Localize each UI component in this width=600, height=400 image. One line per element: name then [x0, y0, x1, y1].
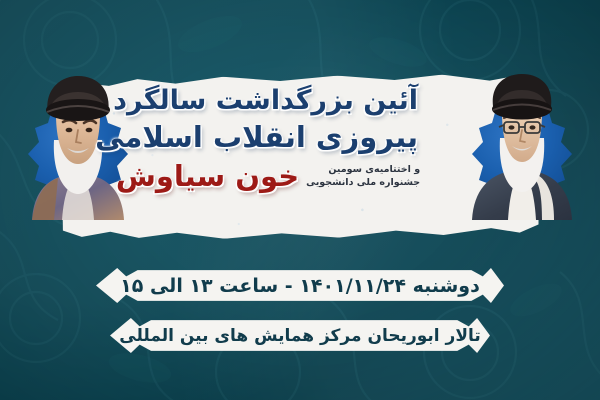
headline-line-1: آئین بزرگداشت سالگرد	[118, 84, 418, 118]
portrait-khamenei	[458, 70, 586, 220]
portrait-khamenei-image	[458, 70, 586, 220]
festival-name: خون سیاوش	[116, 160, 299, 192]
festival-subtitle-line-1: و اختتامیه‌ی سومین	[306, 163, 420, 176]
festival-row: خون سیاوش و اختتامیه‌ی سومین جشنواره ملی…	[118, 160, 418, 192]
date-time-banner: دوشنبه ۱۴۰۱/۱۱/۲۴ - ساعت ۱۳ الی ۱۵	[96, 268, 504, 303]
headline-text-block: آئین بزرگداشت سالگرد پیروزی انقلاب اسلام…	[118, 82, 418, 234]
headline-line-2: پیروزی انقلاب اسلامی	[118, 119, 418, 155]
event-poster: آئین بزرگداشت سالگرد پیروزی انقلاب اسلام…	[0, 0, 600, 400]
festival-subtitle-line-2: جشنواره ملی دانشجویی	[306, 176, 420, 189]
festival-subtitle: و اختتامیه‌ی سومین جشنواره ملی دانشجویی	[306, 163, 420, 189]
venue-banner: تالار ابوریحان مرکز همایش های بین المللی	[110, 318, 490, 353]
